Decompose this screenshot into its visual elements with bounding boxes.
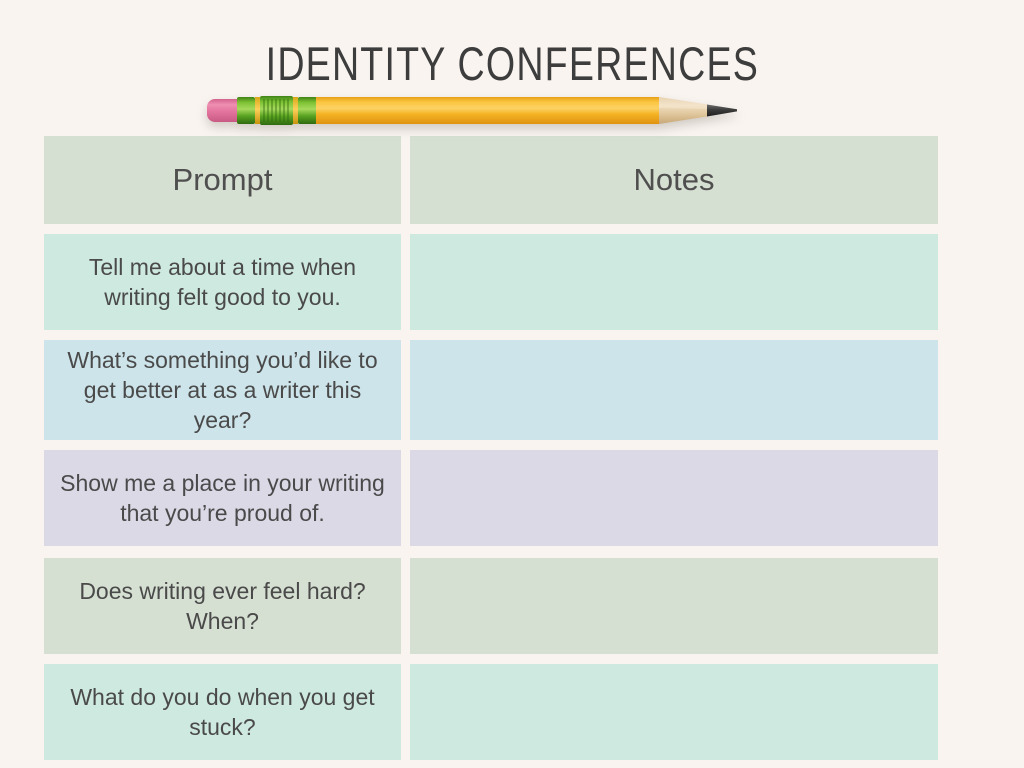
page-title: IDENTITY CONFERENCES (265, 38, 758, 90)
notes-cell[interactable] (410, 558, 938, 654)
prompt-cell: Does writing ever feel hard? When? (44, 558, 401, 654)
column-header-prompt-label: Prompt (173, 162, 273, 198)
column-header-notes: Notes (410, 136, 938, 224)
prompt-text: What do you do when you get stuck? (58, 682, 387, 742)
table-row: What do you do when you get stuck? (44, 664, 938, 760)
table-header-row: Prompt Notes (44, 136, 938, 224)
prompt-cell: What do you do when you get stuck? (44, 664, 401, 760)
notes-cell[interactable] (410, 664, 938, 760)
notes-cell[interactable] (410, 450, 938, 546)
column-header-prompt: Prompt (44, 136, 401, 224)
conference-table: Prompt Notes Tell me about a time when w… (44, 136, 938, 768)
notes-cell[interactable] (410, 340, 938, 440)
prompt-text: What’s something you’d like to get bette… (58, 345, 387, 435)
prompt-cell: Show me a place in your writing that you… (44, 450, 401, 546)
table-row: Tell me about a time when writing felt g… (44, 234, 938, 330)
table-row: Does writing ever feel hard? When? (44, 558, 938, 654)
notes-cell[interactable] (410, 234, 938, 330)
prompt-cell: What’s something you’d like to get bette… (44, 340, 401, 440)
column-header-notes-label: Notes (634, 162, 715, 198)
table-row: What’s something you’d like to get bette… (44, 340, 938, 440)
prompt-text: Does writing ever feel hard? When? (58, 576, 387, 636)
prompt-cell: Tell me about a time when writing felt g… (44, 234, 401, 330)
prompt-text: Show me a place in your writing that you… (58, 468, 387, 528)
title-container: IDENTITY CONFERENCES (0, 38, 1024, 90)
prompt-text: Tell me about a time when writing felt g… (58, 252, 387, 312)
pencil-icon (207, 90, 737, 130)
table-row: Show me a place in your writing that you… (44, 450, 938, 546)
